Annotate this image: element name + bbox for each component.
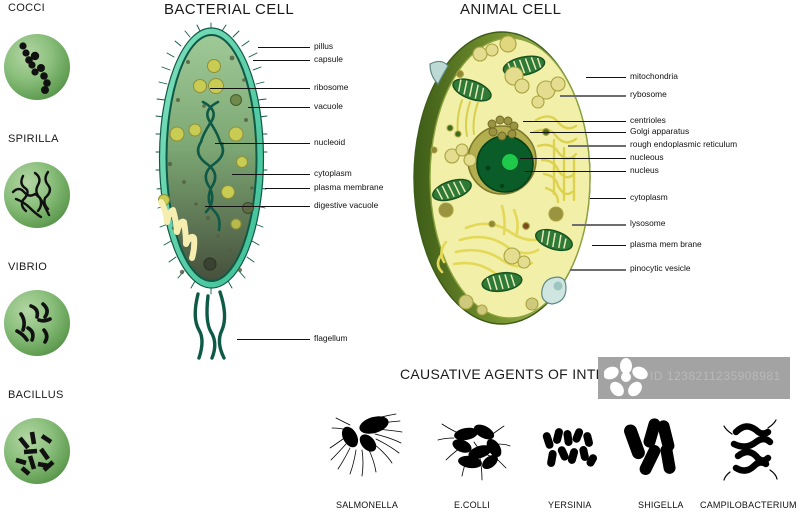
ecolli-icon [436, 418, 512, 493]
agent-caption-ecolli: E.COLLI [454, 500, 490, 510]
animal-leader-line [570, 269, 626, 271]
bacterial-leader-line [232, 174, 310, 175]
agent-caption-salmonella: SALMONELLA [336, 500, 398, 510]
bacterial-leader-line [205, 206, 310, 207]
bacterial-leader-line [258, 47, 310, 48]
bacterial-cell-title: BACTERIAL CELL [164, 1, 294, 18]
bacterial-leader-line [265, 188, 310, 189]
bacterial-label: pillus [314, 42, 333, 51]
bacterial-cell-illustration [148, 22, 278, 362]
animal-label: cytoplasm [630, 193, 668, 202]
agent-caption-yersinia: YERSINIA [548, 500, 592, 510]
salmonella-icon [328, 410, 412, 497]
bacterial-leader-line [237, 339, 310, 340]
bacterial-leader-line [253, 60, 310, 61]
bacterial-leader-line [210, 88, 310, 89]
animal-label: pinocytic vesicle [630, 264, 691, 273]
watermark-text: ID 1238211235908981 [650, 369, 781, 383]
morphology-caption-bacillus: BACILLUS [8, 389, 64, 401]
morphology-caption-spirilla: SPIRILLA [8, 133, 59, 145]
bacterial-label: ribosome [314, 83, 348, 92]
animal-label: mitochondria [630, 72, 678, 81]
yersinia-icon [540, 424, 602, 479]
animal-leader-line [560, 95, 626, 97]
bacterial-label: cytoplasm [314, 169, 352, 178]
bacterial-label: vacuole [314, 102, 343, 111]
animal-leader-line [523, 121, 626, 122]
animal-label: Golgi apparatus [630, 127, 689, 136]
bacterial-leader-line [215, 143, 310, 144]
bacterial-label: digestive vacuole [314, 201, 378, 210]
animal-leader-line [520, 158, 626, 159]
animal-leader-line [590, 198, 626, 199]
animal-label: centrioles [630, 116, 666, 125]
bacterial-label: nucleoid [314, 138, 345, 147]
watermark: ID 1238211235908981 [598, 357, 790, 399]
animal-label: rybosome [630, 90, 667, 99]
animal-leader-line [525, 171, 626, 172]
animal-label: nucleous [630, 153, 664, 162]
animal-leader-line [572, 224, 626, 226]
agent-caption-shigella: SHIGELLA [638, 500, 684, 510]
agent-caption-campilobacterium: CAMPILOBACTERIUM [700, 500, 797, 510]
bacterial-label: plasma membrane [314, 183, 383, 192]
animal-label: rough endoplasmic reticulum [630, 140, 737, 149]
bacterial-leader-line [248, 107, 310, 108]
bacterial-label: flagellum [314, 334, 348, 343]
animal-leader-line [592, 245, 626, 246]
campilobacterium-icon [722, 418, 778, 487]
animal-leader-line [586, 77, 626, 78]
animal-label: plasma mem brane [630, 240, 702, 249]
animal-cell-title: ANIMAL CELL [460, 1, 561, 18]
spirilla-circle-icon [4, 162, 70, 228]
morphology-caption-cocci: COCCI [8, 2, 45, 14]
animal-leader-line [568, 145, 626, 147]
vibrio-circle-icon [4, 290, 70, 356]
morphology-caption-vibrio: VIBRIO [8, 261, 47, 273]
animal-label: nucleus [630, 166, 659, 175]
animal-leader-line [530, 132, 626, 133]
diagram-canvas: BACTERIAL CELL ANIMAL CELL COCCI SPIRILL… [0, 0, 800, 517]
cocci-circle-icon [4, 34, 70, 100]
animal-cell-illustration [406, 28, 606, 328]
flower-logo-icon [604, 358, 648, 399]
animal-label: lysosome [630, 219, 665, 228]
shigella-icon [622, 414, 688, 485]
bacillus-circle-icon [4, 418, 70, 484]
bacterial-label: capsule [314, 55, 343, 64]
